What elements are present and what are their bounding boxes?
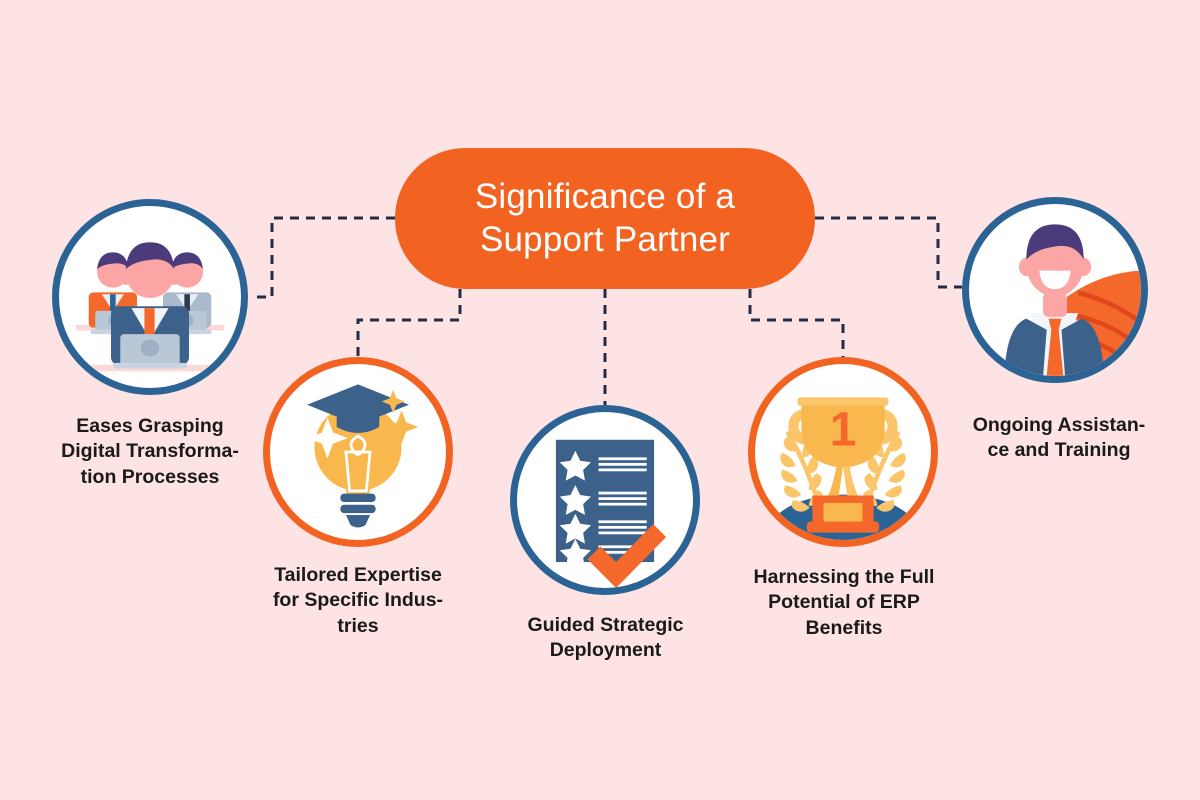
node-deployment-label: Guided Strategic Deployment bbox=[478, 613, 733, 664]
team-laptops-icon[interactable] bbox=[52, 199, 248, 395]
connector-center-to-support bbox=[815, 218, 962, 287]
superhero-person-icon[interactable] bbox=[962, 197, 1148, 383]
trophy-rank-number: 1 bbox=[830, 403, 857, 457]
superhero-person-art bbox=[969, 204, 1141, 376]
center-title-pill[interactable]: Significance of a Support Partner bbox=[395, 148, 815, 289]
trophy-laurel-icon[interactable]: 1 bbox=[748, 357, 938, 547]
checklist-document-icon[interactable] bbox=[510, 405, 700, 595]
team-laptops-art bbox=[59, 206, 241, 388]
connector-lines bbox=[0, 0, 1200, 800]
page-title: Significance of a Support Partner bbox=[475, 176, 735, 261]
infographic-canvas: Significance of a Support Partner bbox=[0, 0, 1200, 800]
graduation-lightbulb-icon[interactable] bbox=[263, 357, 453, 547]
connector-center-to-benefits bbox=[750, 289, 843, 357]
connector-center-to-expertise bbox=[358, 289, 460, 357]
node-support-label: Ongoing Assistan- ce and Training bbox=[930, 413, 1188, 464]
trophy-laurel-art: 1 bbox=[755, 364, 931, 540]
graduation-lightbulb-art bbox=[270, 364, 446, 540]
connector-center-to-team bbox=[250, 218, 395, 297]
checklist-document-art bbox=[517, 412, 693, 588]
node-expertise-label: Tailored Expertise for Specific Indus- t… bbox=[228, 563, 488, 639]
node-team-label: Eases Grasping Digital Transforma- tion … bbox=[20, 414, 280, 490]
node-benefits-label: Harnessing the Full Potential of ERP Ben… bbox=[718, 565, 970, 641]
